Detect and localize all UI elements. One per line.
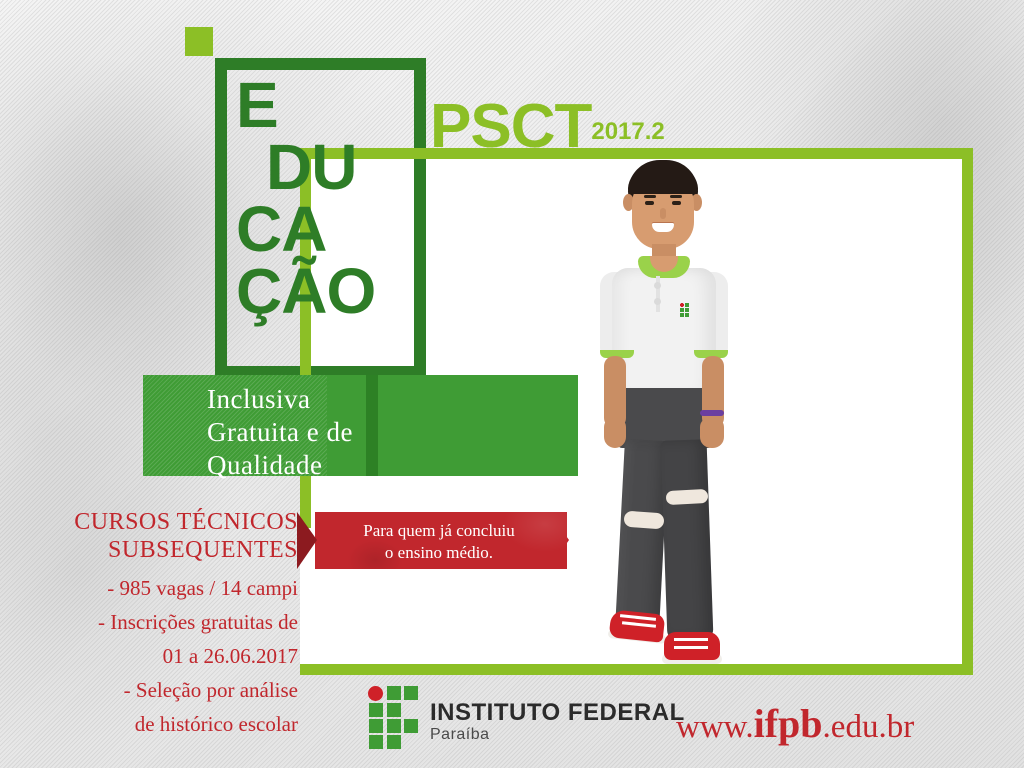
tagline-line-1: Inclusiva <box>207 383 353 416</box>
logo-cell-r4c1 <box>369 735 383 749</box>
student-smile <box>652 223 674 232</box>
student-brow-right <box>670 195 682 198</box>
headline-line-3: CA <box>236 198 436 260</box>
logo-cell-r3c3 <box>404 719 418 733</box>
logo-cell-r2c2 <box>387 703 401 717</box>
institution-state: Paraíba <box>430 726 685 744</box>
tagline-box: Inclusiva Gratuita e de Qualidade <box>143 375 578 476</box>
poster-canvas: E DU CA ÇÃO PSCT2017.2 Inclusiva Gratuit… <box>0 0 1024 768</box>
institution-name-block: INSTITUTO FEDERAL Paraíba <box>430 700 685 744</box>
student-chest-ifpb-logo <box>680 302 693 318</box>
student-shoe-right-lace-2 <box>674 646 708 649</box>
headline-line-1: E <box>236 74 436 136</box>
course-bullet-3-cont: de histórico escolar <box>20 708 298 740</box>
logo-cell-r1c2 <box>387 686 401 700</box>
program-acronym: PSCT <box>430 92 591 161</box>
course-info-block: CURSOS TÉCNICOS SUBSEQUENTES - 985 vagas… <box>20 508 298 740</box>
student-eye-left <box>645 201 654 205</box>
course-heading-line-2: SUBSEQUENTES <box>20 536 298 564</box>
lime-frame-right <box>962 148 973 675</box>
course-bullet-2: - Inscrições gratuitas de <box>20 606 298 638</box>
tagline-text: Inclusiva Gratuita e de Qualidade <box>207 383 353 482</box>
student-jeans-rip-left <box>623 511 664 530</box>
student-eye-right <box>672 201 681 205</box>
ribbon-line-1: Para quem já concluiu <box>319 520 559 542</box>
course-bullet-1: - 985 vagas / 14 campi <box>20 572 298 604</box>
student-shoe-right-lace-1 <box>674 638 708 641</box>
ribbon-text: Para quem já concluiu o ensino médio. <box>319 520 559 564</box>
ifpb-grid-logo-icon <box>368 686 420 748</box>
student-nose <box>660 208 666 219</box>
student-hand-right <box>700 418 724 448</box>
student-shoe-left <box>609 609 666 642</box>
tagline-line-3: Qualidade <box>207 449 353 482</box>
course-bullet-3: - Seleção por análise <box>20 674 298 706</box>
logo-cell-r2c1 <box>369 703 383 717</box>
student-hand-left <box>604 418 626 448</box>
program-year: 2017.2 <box>591 118 664 145</box>
course-bullet-2-cont: 01 a 26.06.2017 <box>20 640 298 672</box>
student-photo <box>560 160 760 670</box>
student-brow-left <box>644 195 656 198</box>
student-wristband <box>700 410 724 416</box>
logo-cell-r1c3 <box>404 686 418 700</box>
ribbon-line-2: o ensino médio. <box>319 542 559 564</box>
student-polo-shirt <box>612 268 716 398</box>
lime-frame-bottom <box>300 664 973 675</box>
program-title: PSCT2017.2 <box>430 96 665 163</box>
url-suffix: .edu.br <box>823 709 915 745</box>
logo-cell-r3c2 <box>387 719 401 733</box>
website-url[interactable]: www.ifpb.edu.br <box>676 706 914 745</box>
url-brand: ifpb <box>754 701 823 746</box>
student-jeans-rip-right <box>666 489 709 505</box>
headline-line-4: ÇÃO <box>236 260 436 322</box>
url-prefix: www. <box>676 709 754 745</box>
headline-educacao: E DU CA ÇÃO <box>236 74 436 374</box>
red-ribbon: Para quem já concluiu o ensino médio. <box>297 512 582 569</box>
institution-name: INSTITUTO FEDERAL <box>430 700 685 726</box>
ribbon-notch-left <box>297 512 317 569</box>
headline-line-2: DU <box>236 136 436 198</box>
dark-green-frame-overlay <box>366 375 378 476</box>
logo-cell-r4c2 <box>387 735 401 749</box>
logo-red-dot <box>368 686 383 701</box>
course-heading-line-1: CURSOS TÉCNICOS <box>20 508 298 536</box>
student-fringe <box>628 168 698 194</box>
student-button-top <box>654 282 661 289</box>
logo-cell-r3c1 <box>369 719 383 733</box>
dark-green-frame-left <box>215 58 227 378</box>
tagline-line-2: Gratuita e de <box>207 416 353 449</box>
student-button-bottom <box>654 298 661 305</box>
lime-square-accent <box>185 27 213 56</box>
student-leg-right <box>661 439 714 640</box>
